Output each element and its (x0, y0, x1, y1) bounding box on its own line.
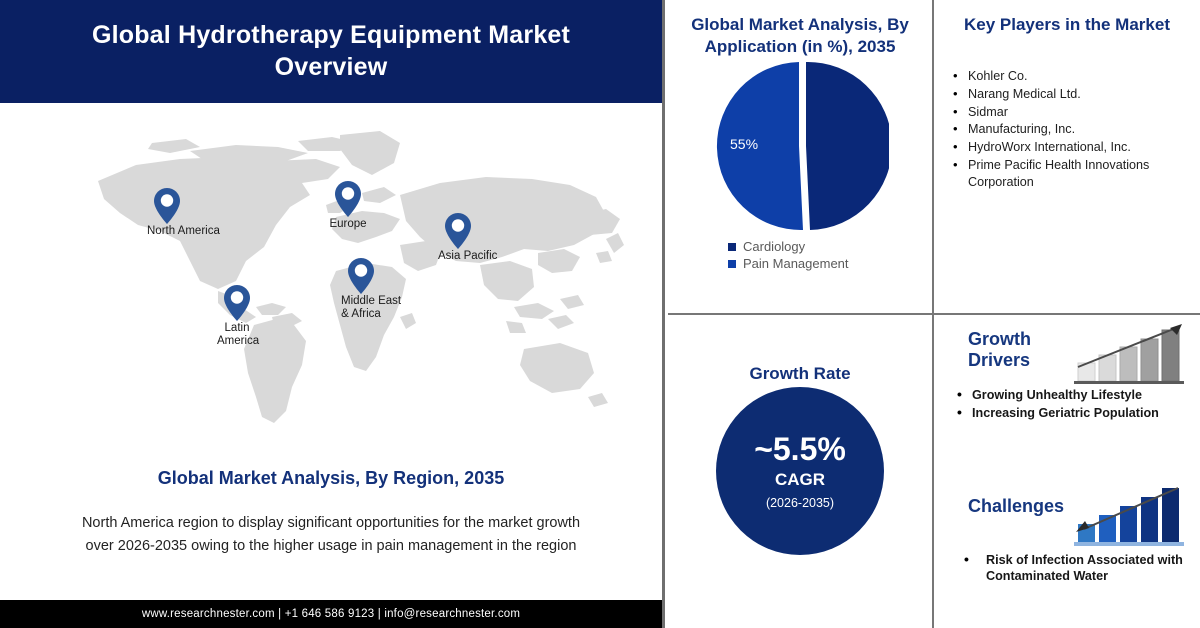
map-pin-label: Middle East& Africa (341, 295, 381, 321)
map-pin-label: North America (147, 225, 187, 238)
infographic-page: Global Hydrotherapy Equipment Market Ove… (0, 0, 1200, 628)
map-pin-asia-pacific[interactable]: Asia Pacific (438, 213, 478, 263)
map-pin-icon (224, 285, 250, 321)
cagr-period: (2026-2035) (766, 496, 834, 510)
legend-label: Cardiology (743, 239, 805, 254)
legend-item-cardiology: Cardiology (728, 239, 932, 254)
legend-label: Pain Management (743, 256, 849, 271)
growth-drivers-list: Growing Unhealthy Lifestyle Increasing G… (934, 387, 1200, 422)
map-pin-icon (154, 188, 180, 224)
map-pin-label: LatinAmerica (217, 322, 257, 348)
list-item: Manufacturing, Inc. (968, 121, 1190, 138)
key-players-panel: Key Players in the Market Kohler Co. Nar… (934, 0, 1200, 315)
map-pin-icon (445, 213, 471, 249)
list-item: Narang Medical Ltd. (968, 86, 1190, 103)
map-pin-north-america[interactable]: North America (147, 188, 187, 238)
ascending-bar-chart-blue-icon (1072, 482, 1190, 548)
list-item: Growing Unhealthy Lifestyle (972, 387, 1192, 403)
map-pin-label: Asia Pacific (438, 250, 478, 263)
drivers-challenges-panel: GrowthDrivers Growing Unhealthy Lifestyl… (934, 315, 1200, 628)
application-analysis-panel: Global Market Analysis, By Application (… (668, 0, 934, 315)
list-item: Increasing Geriatric Population (972, 405, 1192, 421)
map-pin-middle-east-africa[interactable]: Middle East& Africa (341, 258, 381, 321)
right-grid: Global Market Analysis, By Application (… (668, 0, 1200, 628)
challenges-title: Challenges (968, 496, 1064, 517)
cagr-value: ~5.5% (754, 433, 846, 465)
header-bar: Global Hydrotherapy Equipment Market Ove… (0, 0, 662, 103)
list-item: Prime Pacific Health Innovations Corpora… (968, 157, 1190, 190)
region-analysis-description: North America region to display signific… (70, 512, 592, 558)
legend-swatch-icon (728, 260, 736, 268)
ascending-bar-chart-gray-icon (1072, 321, 1190, 387)
map-pin-icon (335, 181, 361, 217)
footer-contact-text: www.researchnester.com | +1 646 586 9123… (142, 608, 520, 620)
list-item: Sidmar (968, 104, 1190, 121)
map-pin-label: Europe (328, 218, 368, 231)
cagr-circle: ~5.5% CAGR (2026-2035) (716, 387, 884, 555)
growth-drivers-title: GrowthDrivers (968, 329, 1031, 370)
footer-bar: www.researchnester.com | +1 646 586 9123… (0, 600, 662, 628)
growth-drivers-header: GrowthDrivers (934, 315, 1200, 387)
legend-item-pain-management: Pain Management (728, 256, 932, 271)
region-analysis-title: Global Market Analysis, By Region, 2035 (0, 468, 662, 489)
left-panel: Global Hydrotherapy Equipment Market Ove… (0, 0, 665, 628)
legend-swatch-icon (728, 243, 736, 251)
world-map-region: North America Europe Asia Pacific (0, 103, 662, 455)
page-title: Global Hydrotherapy Equipment Market Ove… (0, 20, 662, 83)
growth-rate-title: Growth Rate (668, 315, 932, 385)
list-item: HydroWorx International, Inc. (968, 139, 1190, 156)
list-item: Kohler Co. (968, 68, 1190, 85)
cagr-metric-label: CAGR (775, 470, 825, 490)
pie-legend: Cardiology Pain Management (668, 239, 932, 271)
application-analysis-title: Global Market Analysis, By Application (… (668, 0, 932, 58)
list-item: Risk of Infection Associated with Contam… (986, 552, 1192, 585)
pie-chart: 55% (668, 60, 934, 235)
growth-rate-panel: Growth Rate ~5.5% CAGR (2026-2035) (668, 315, 934, 628)
challenges-header: Challenges (934, 466, 1200, 552)
map-pin-icon (348, 258, 374, 294)
map-pin-europe[interactable]: Europe (328, 181, 368, 231)
key-players-list: Kohler Co. Narang Medical Ltd. Sidmar Ma… (934, 68, 1200, 190)
pie-slice-label-pain-management: 55% (730, 136, 758, 152)
world-map-icon (40, 121, 640, 441)
challenges-list: Risk of Infection Associated with Contam… (934, 552, 1200, 585)
key-players-title: Key Players in the Market (934, 0, 1200, 36)
map-pin-latin-america[interactable]: LatinAmerica (217, 285, 257, 348)
